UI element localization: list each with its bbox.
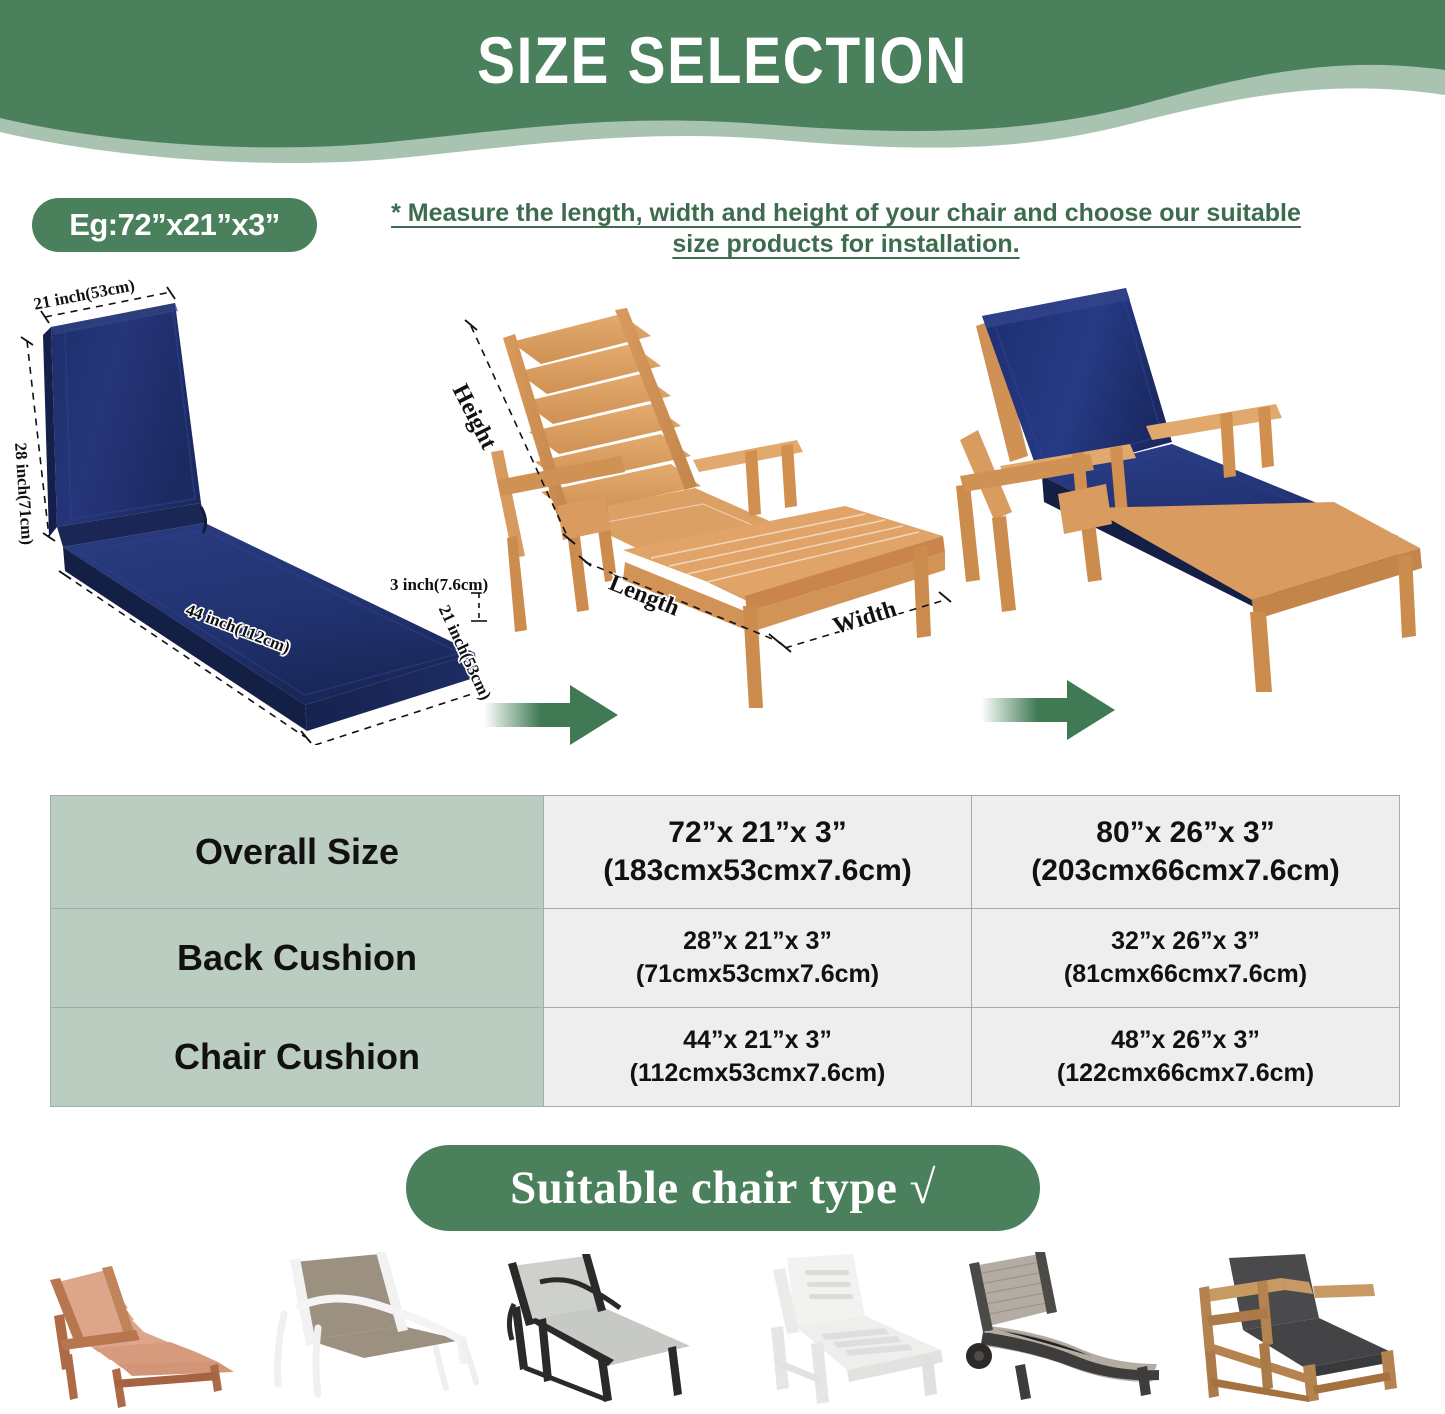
arrow-right-icon-1 bbox=[478, 675, 658, 755]
arrow-right-icon-2 bbox=[975, 670, 1155, 750]
table-row: Back Cushion 28”x 21”x 3” (71cmx53cmx7.6… bbox=[51, 909, 1400, 1008]
chair-thumb-wicker-rattan-wheeled-lounger bbox=[955, 1248, 1195, 1414]
overall-size-b-cm: (203cmx66cmx7.6cm) bbox=[972, 852, 1399, 890]
overall-size-b-inches: 80”x 26”x 3” bbox=[972, 814, 1399, 852]
chair-cushion-b-cm: (122cmx66cmx7.6cm) bbox=[972, 1057, 1399, 1090]
chair-type-gallery bbox=[0, 1248, 1445, 1414]
chair-thumb-wooden-slat-lounger bbox=[20, 1248, 260, 1414]
row-label-chair-cushion: Chair Cushion bbox=[51, 1008, 544, 1107]
diagram-row: 21 inch(53cm) 28 inch(71cm) 44 inch(112c… bbox=[0, 270, 1445, 770]
row-back-cushion-option-a: 28”x 21”x 3” (71cmx53cmx7.6cm) bbox=[544, 909, 972, 1008]
infographic-page: SIZE SELECTION Eg:72”x21”x3” * Measure t… bbox=[0, 0, 1445, 1414]
chair-with-cushion-diagram bbox=[920, 280, 1440, 700]
table-row: Overall Size 72”x 21”x 3” (183cmx53cmx7.… bbox=[51, 796, 1400, 909]
chair-cushion-b-inches: 48”x 26”x 3” bbox=[972, 1024, 1399, 1057]
size-specification-table: Overall Size 72”x 21”x 3” (183cmx53cmx7.… bbox=[50, 795, 1400, 1107]
chair-cushion-a-inches: 44”x 21”x 3” bbox=[544, 1024, 971, 1057]
row-chair-cushion-option-b: 48”x 26”x 3” (122cmx66cmx7.6cm) bbox=[972, 1008, 1400, 1107]
chair-thumb-white-resin-plastic-lounger bbox=[725, 1248, 965, 1414]
back-cushion-a-cm: (71cmx53cmx7.6cm) bbox=[544, 958, 971, 991]
example-size-badge: Eg:72”x21”x3” bbox=[32, 198, 317, 252]
chair-thumb-black-frame-grey-sling-lounger bbox=[490, 1248, 730, 1414]
suitable-chair-type-banner: Suitable chair type √ bbox=[406, 1145, 1040, 1231]
overall-size-a-inches: 72”x 21”x 3” bbox=[544, 814, 971, 852]
chair-cushion-a-cm: (112cmx53cmx7.6cm) bbox=[544, 1057, 971, 1090]
overall-size-a-cm: (183cmx53cmx7.6cm) bbox=[544, 852, 971, 890]
row-label-back-cushion: Back Cushion bbox=[51, 909, 544, 1008]
row-overall-size-option-b: 80”x 26”x 3” (203cmx66cmx7.6cm) bbox=[972, 796, 1400, 909]
back-cushion-a-inches: 28”x 21”x 3” bbox=[544, 925, 971, 958]
back-cushion-b-cm: (81cmx66cmx7.6cm) bbox=[972, 958, 1399, 991]
chair-thumb-white-aluminum-sling-lounger bbox=[250, 1248, 490, 1414]
chair-thumb-wood-frame-dark-sling-lounger bbox=[1185, 1248, 1425, 1414]
measure-instruction-note: * Measure the length, width and height o… bbox=[366, 198, 1326, 260]
row-back-cushion-option-b: 32”x 26”x 3” (81cmx66cmx7.6cm) bbox=[972, 909, 1400, 1008]
page-title: SIZE SELECTION bbox=[101, 22, 1344, 98]
row-overall-size-option-a: 72”x 21”x 3” (183cmx53cmx7.6cm) bbox=[544, 796, 972, 909]
page-header: SIZE SELECTION bbox=[0, 0, 1445, 185]
table-row: Chair Cushion 44”x 21”x 3” (112cmx53cmx7… bbox=[51, 1008, 1400, 1107]
row-label-overall-size: Overall Size bbox=[51, 796, 544, 909]
back-cushion-b-inches: 32”x 26”x 3” bbox=[972, 925, 1399, 958]
row-chair-cushion-option-a: 44”x 21”x 3” (112cmx53cmx7.6cm) bbox=[544, 1008, 972, 1107]
wooden-chair-diagram bbox=[445, 300, 965, 720]
